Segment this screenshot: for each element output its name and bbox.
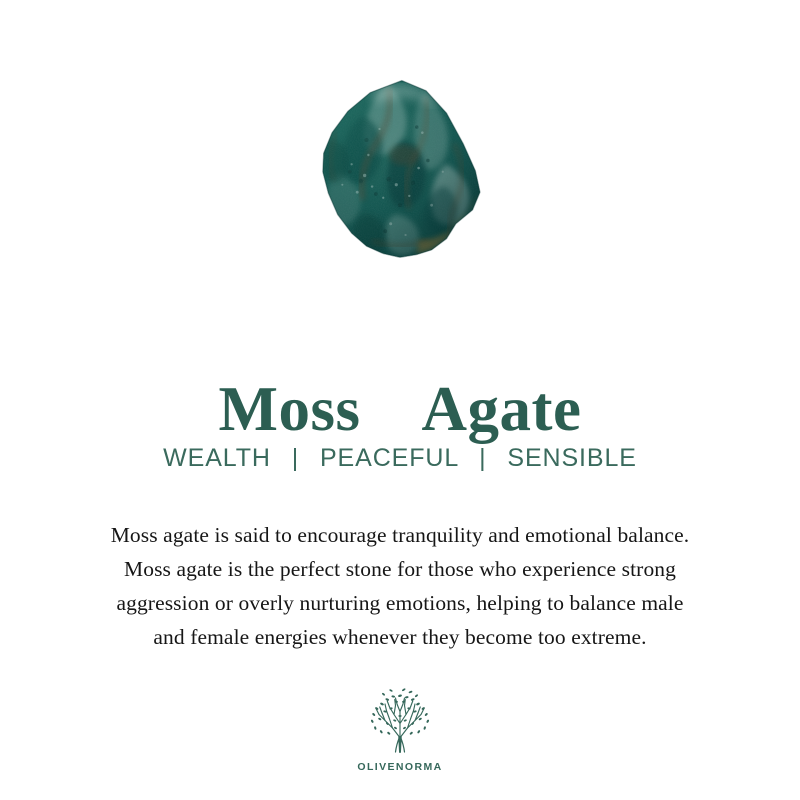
moss-agate-stone-icon [307,75,493,261]
keyword-list: WEALTH | PEACEFUL | SENSIBLE [0,443,800,473]
description-block: Moss agate is said to encourage tranquil… [40,518,760,654]
gemstone-image-container [0,60,800,275]
keyword-separator-1: | [279,443,312,473]
keyword-peaceful: PEACEFUL [320,444,458,472]
description-line-1: Moss agate is said to encourage tranquil… [40,518,760,552]
brand-wordmark: OLIVENORMA [357,761,442,773]
description-line-3: aggression or overly nurturing emotions,… [40,586,760,620]
page-title: Moss Agate [0,376,800,442]
description-line-2: Moss agate is the perfect stone for thos… [40,552,760,586]
product-info-card: Moss Agate WEALTH | PEACEFUL | SENSIBLE … [0,0,800,800]
description-line-4: and female energies whenever they become… [40,620,760,654]
brand-logo: OLIVENORMA [0,686,800,773]
keyword-sensible: SENSIBLE [507,444,636,472]
keyword-wealth: WEALTH [163,444,271,472]
olive-tree-icon [361,686,439,758]
keyword-separator-2: | [466,443,499,473]
